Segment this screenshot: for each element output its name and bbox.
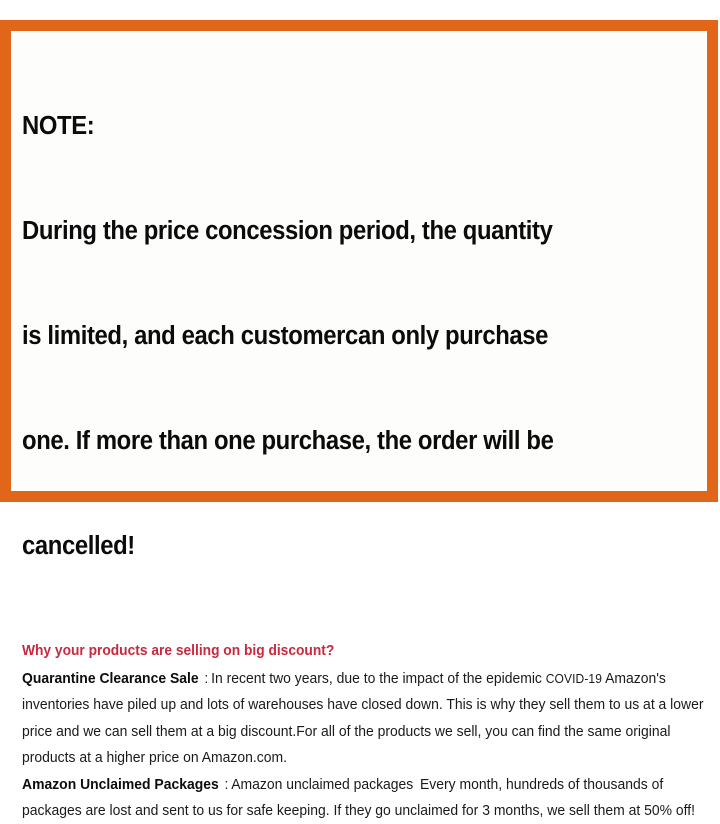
covid-acronym: COVID-19 <box>546 672 602 686</box>
paragraph-quarantine-clearance-sale: Quarantine Clearance Sale:In recent two … <box>22 666 720 772</box>
notice-box: NOTE: During the price concession period… <box>0 20 718 502</box>
headline-line-3: is limited, and each customercan only pu… <box>22 319 653 354</box>
discount-question-subheading: Why your products are selling on big dis… <box>22 641 663 661</box>
paragraph-label-unclaimed: Amazon Unclaimed Packages <box>22 777 219 793</box>
paragraph-label-quarantine: Quarantine Clearance Sale <box>22 671 199 687</box>
notice-inner-panel: NOTE: During the price concession period… <box>11 31 707 491</box>
notice-headline: NOTE: During the price concession period… <box>22 39 653 634</box>
paragraph-colon-unclaimed: : <box>219 777 231 793</box>
notice-body-copy: Quarantine Clearance Sale:In recent two … <box>22 666 720 824</box>
headline-line-2: During the price concession period, the … <box>22 214 653 249</box>
paragraph-text-before-acronym: In recent two years, due to the impact o… <box>211 671 546 687</box>
headline-line-note: NOTE: <box>22 109 653 144</box>
paragraph-amazon-unclaimed-packages: Amazon Unclaimed Packages:Amazon unclaim… <box>22 772 720 824</box>
paragraph-colon-quarantine: : <box>199 671 211 687</box>
paragraph-text-unclaimed-part-one: Amazon unclaimed packages <box>231 777 413 793</box>
headline-line-5: cancelled! <box>22 529 653 564</box>
headline-line-4: one. If more than one purchase, the orde… <box>22 424 653 459</box>
page-canvas: NOTE: During the price concession period… <box>0 0 720 514</box>
